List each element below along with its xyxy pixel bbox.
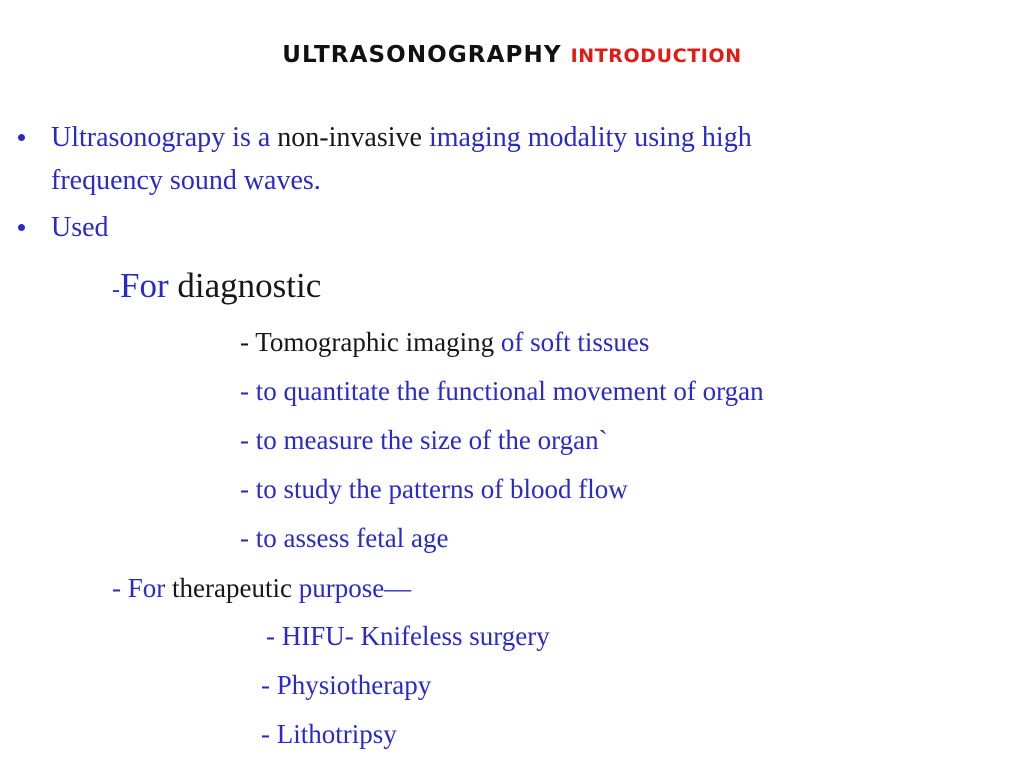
slide-canvas: ULTRASONOGRAPHYINTRODUCTION Ultrasonogra…	[0, 0, 1024, 768]
bullet-item-1-line-1: Ultrasonograpy is a non-invasive imaging…	[51, 122, 752, 154]
bullet-item-2: Used	[18, 212, 109, 244]
bullet-dot-icon	[18, 224, 25, 231]
diagnostic-item-4-blue: to study the patterns of blood flow	[256, 474, 628, 504]
diagnostic-item-3-dash: -	[240, 425, 256, 455]
diagnostic-item-1-blue: of soft tissues	[501, 327, 650, 357]
diagnostic-item-3-blue: to measure the size of the organ`	[256, 425, 608, 455]
diagnostic-item-1: - Tomographic imaging of soft tissues	[240, 329, 649, 356]
therapeutic-heading: - For therapeutic purpose—	[112, 575, 411, 602]
diagnostic-item-5: - to assess fetal age	[240, 525, 448, 552]
diagnostic-item-2-dash: -	[240, 376, 256, 406]
diagnostic-heading-blue-word: For	[120, 266, 169, 305]
diagnostic-item-3: - to measure the size of the organ`	[240, 427, 608, 454]
diagnostic-heading-black-word: diagnostic	[169, 266, 322, 305]
diagnostic-item-1-black: Tomographic imaging	[255, 327, 501, 357]
bullet-item-2-label: Used	[51, 212, 109, 244]
diagnostic-item-2: - to quantitate the functional movement …	[240, 378, 764, 405]
diagnostic-item-5-dash: -	[240, 523, 256, 553]
diagnostic-heading: -For diagnostic	[112, 268, 321, 303]
therapeutic-heading-blue-word-2: purpose—	[299, 573, 411, 603]
diagnostic-item-5-blue: to assess fetal age	[256, 523, 449, 553]
therapeutic-heading-black-word: therapeutic	[172, 573, 299, 603]
title-subtitle-text: INTRODUCTION	[571, 45, 742, 67]
diagnostic-item-2-blue: to quantitate the functional movement of…	[256, 376, 764, 406]
bullet-1-segment-blue-b: imaging modality using high	[429, 122, 752, 153]
therapeutic-item-2: - Physiotherapy	[261, 672, 431, 699]
bullet-item-1-line-2: frequency sound waves.	[51, 167, 321, 195]
diagnostic-item-4-dash: -	[240, 474, 256, 504]
therapeutic-item-1: - HIFU- Knifeless surgery	[266, 623, 550, 650]
therapeutic-heading-dash: -	[112, 573, 128, 603]
diagnostic-heading-dash: -	[112, 277, 120, 303]
therapeutic-item-3: - Lithotripsy	[261, 721, 397, 748]
bullet-item-1: Ultrasonograpy is a non-invasive imaging…	[18, 122, 752, 154]
bullet-dot-icon	[18, 134, 25, 141]
bullet-1-segment-blue-a: Ultrasonograpy is a	[51, 122, 277, 153]
slide-title: ULTRASONOGRAPHYINTRODUCTION	[0, 42, 1024, 68]
therapeutic-heading-blue-word: For	[128, 573, 172, 603]
title-main-text: ULTRASONOGRAPHY	[282, 42, 561, 68]
diagnostic-item-1-dash: -	[240, 327, 255, 357]
diagnostic-item-4: - to study the patterns of blood flow	[240, 476, 628, 503]
bullet-1-segment-black: non-invasive	[277, 122, 429, 153]
